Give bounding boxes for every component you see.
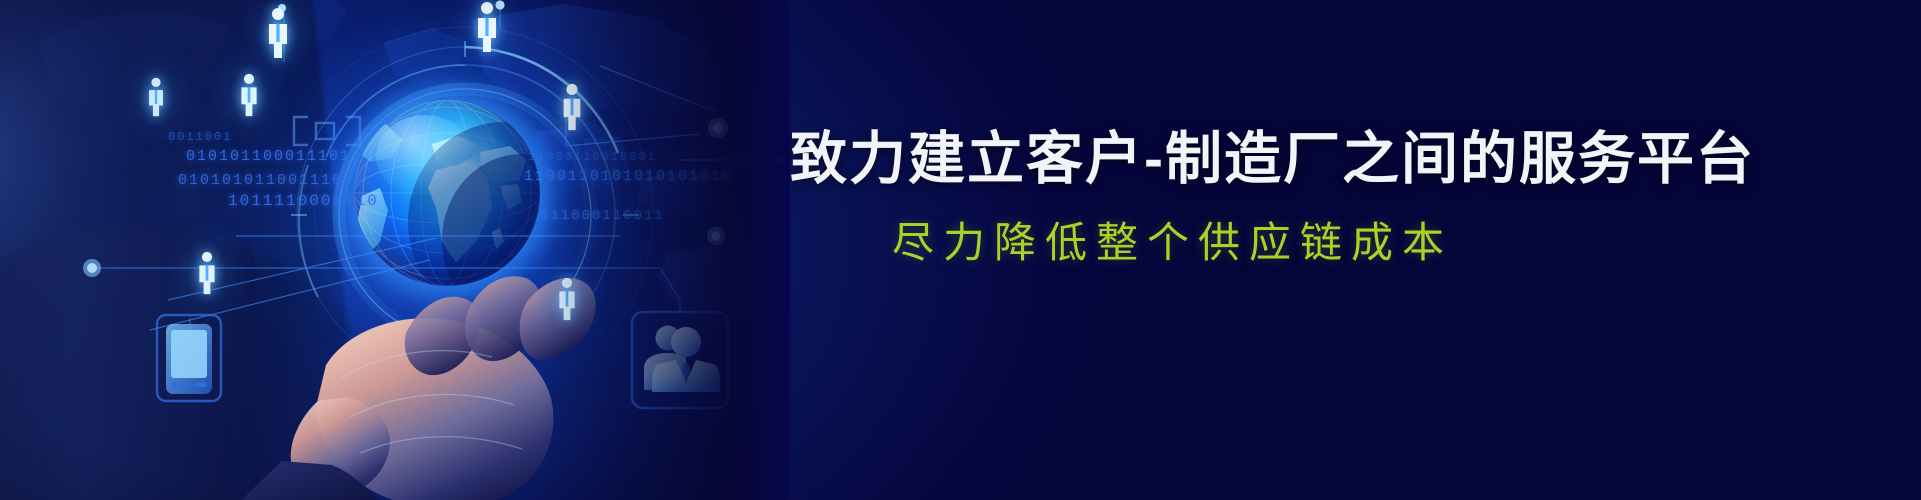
banner-headline: 致力建立客户-制造厂之间的服务平台 [790, 128, 1910, 191]
person-icon [196, 250, 218, 296]
person-icon [265, 6, 291, 60]
banner-copy: 致力建立客户-制造厂之间的服务平台 尽力降低整个供应链成本 [780, 0, 1921, 500]
mobile-phone-icon [152, 310, 226, 408]
person-icon [146, 76, 166, 118]
person-icon [238, 72, 260, 118]
person-icon [560, 82, 584, 132]
banner-graphic: 0011001 010101100011101 0101010110011101… [0, 0, 790, 500]
network-lines [0, 0, 790, 500]
person-icon [474, 0, 500, 54]
banner-subheadline: 尽力降低整个供应链成本 [892, 218, 1912, 268]
person-icon [556, 276, 578, 322]
hero-banner: 0011001 010101100011101 0101010110011101… [0, 0, 1921, 500]
users-group-icon [628, 308, 732, 412]
